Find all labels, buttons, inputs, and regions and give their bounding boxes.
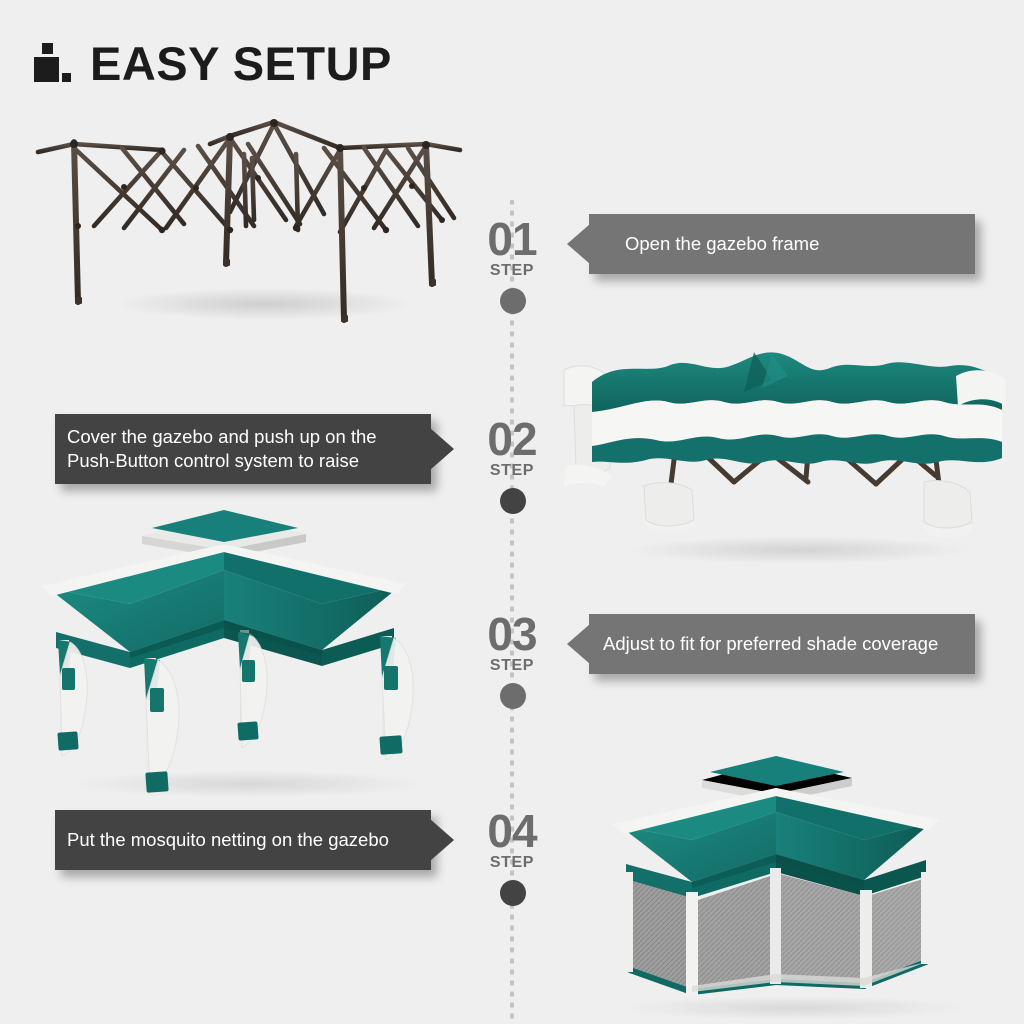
page-title: EASY SETUP [90,40,392,87]
callout-text: Cover the gazebo and push up on the Push… [67,425,377,474]
step-dot [500,683,526,709]
step-number: 03 [470,613,554,655]
step-number: 02 [470,418,554,460]
callout-text: Adjust to fit for preferred shade covera… [603,632,938,656]
callout-step-3: Adjust to fit for preferred shade covera… [589,614,975,674]
callout-text: Put the mosquito netting on the gazebo [67,828,389,852]
callout-arrow-icon [567,224,590,264]
step-word: STEP [470,462,554,480]
callout-arrow-icon [567,624,590,664]
step-dot [500,288,526,314]
callout-step-2: Cover the gazebo and push up on the Push… [55,414,431,484]
callout-step-1: Open the gazebo frame [589,214,975,274]
steps-timeline: 01 STEP 02 STEP 03 STEP 04 STEP [470,200,554,1024]
step-word: STEP [470,657,554,675]
photo-step-2 [558,336,1008,576]
step-dot [500,488,526,514]
step-marker-1: 01 STEP [470,218,554,314]
photo-step-4 [580,742,1010,1022]
step-word: STEP [470,854,554,872]
step-word: STEP [470,262,554,280]
step-marker-2: 02 STEP [470,418,554,514]
step-number: 01 [470,218,554,260]
callout-step-4: Put the mosquito netting on the gazebo [55,810,431,870]
step-dot [500,880,526,906]
step-marker-3: 03 STEP [470,613,554,709]
three-squares-icon [34,43,72,85]
photo-step-1 [34,108,464,328]
step-marker-4: 04 STEP [470,810,554,906]
callout-arrow-icon [430,819,454,861]
step-number: 04 [470,810,554,852]
callout-text: Open the gazebo frame [625,232,819,256]
photo-step-3 [34,500,464,800]
callout-arrow-icon [430,428,454,470]
page-header: EASY SETUP [34,40,392,87]
